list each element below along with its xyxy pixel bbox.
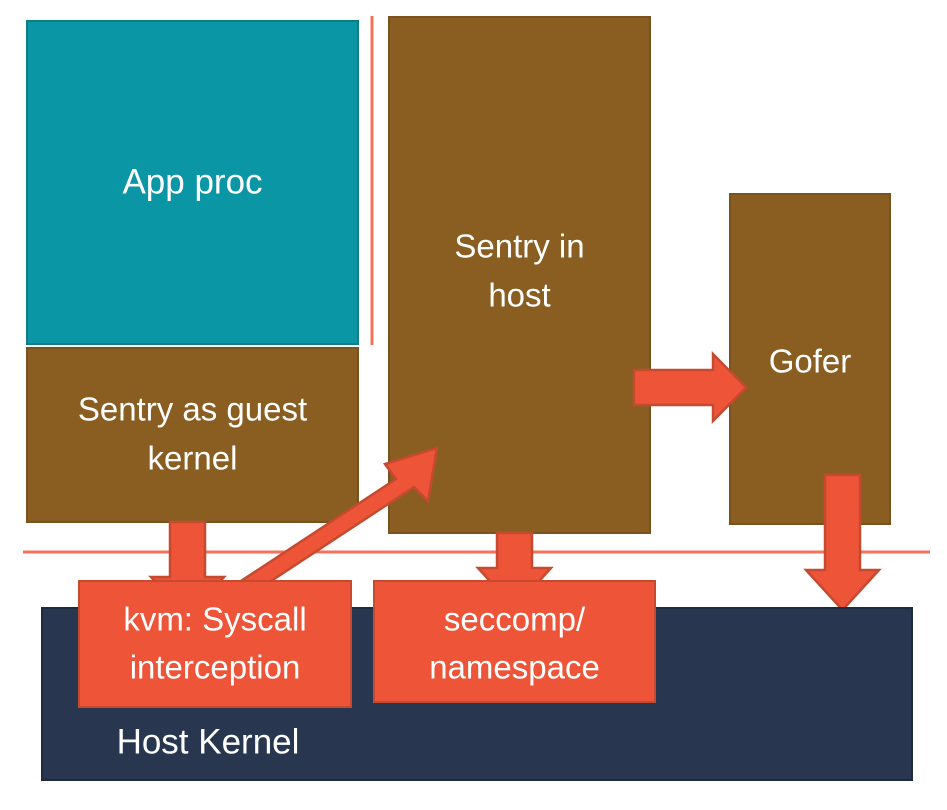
sentry-in-host-label-line2: host [488,277,550,314]
sentry-as-guest-kernel-label-line2: kernel [148,440,238,477]
box-sentry-as-guest-kernel[interactable]: Sentry as guest kernel [27,348,358,522]
seccomp-namespace-label-line2: namespace [429,649,600,686]
sentry-as-guest-kernel-rect[interactable] [27,348,358,522]
diagram-canvas: App proc Sentry as guest kernel Sentry i… [0,0,947,810]
seccomp-namespace-label-line1: seccomp/ [444,601,586,638]
sentry-as-guest-kernel-label-line1: Sentry as guest [78,391,307,428]
box-kvm-syscall-interception[interactable]: kvm: Syscall interception [79,581,351,707]
kvm-syscall-interception-label-line2: interception [130,649,301,686]
app-proc-label: App proc [122,162,262,201]
box-gofer[interactable]: Gofer [730,194,890,524]
architecture-diagram: App proc Sentry as guest kernel Sentry i… [0,0,947,810]
box-app-proc[interactable]: App proc [27,21,358,344]
host-kernel-label: Host Kernel [117,722,300,761]
gofer-label: Gofer [769,343,852,380]
sentry-in-host-label-line1: Sentry in [454,228,584,265]
box-seccomp-namespace[interactable]: seccomp/ namespace [374,581,655,702]
kvm-syscall-interception-label-line1: kvm: Syscall [123,601,306,638]
